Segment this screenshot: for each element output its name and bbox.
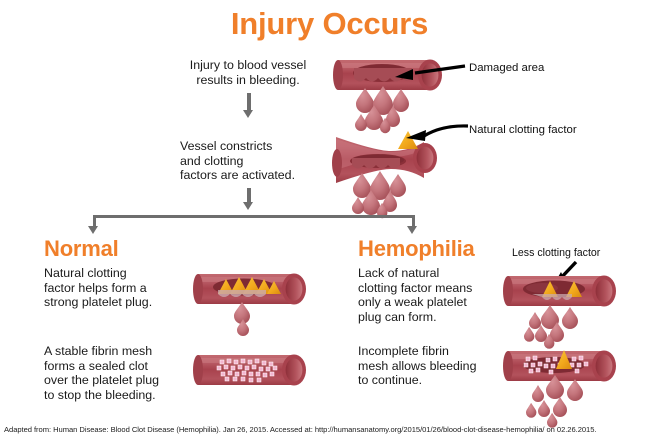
flow-arrow-injury-to-constrict <box>243 93 253 118</box>
footer-source-note: Adapted from: Human Disease: Blood Clot … <box>4 425 656 435</box>
natural-clotting-factor-arrow-icon <box>398 122 470 142</box>
callout-natural-clotting-factor-label: Natural clotting factor <box>469 124 577 136</box>
step-constrict-line-1: Vessel constricts <box>180 139 340 154</box>
infographic-canvas: Injury Occurs Injury to blood vessel res… <box>0 0 659 445</box>
vessel-incomplete-fibrin-mesh-illustration <box>500 345 632 437</box>
branch-connector-line <box>93 215 413 218</box>
blood-droplets <box>526 375 583 428</box>
vessel-sealed-fibrin-clot-illustration <box>190 349 322 399</box>
branch-connector-left <box>92 215 99 234</box>
step-injury-text: Injury to blood vessel results in bleedi… <box>168 58 328 87</box>
page-title: Injury Occurs <box>0 6 659 42</box>
blood-droplets <box>234 302 250 336</box>
vessel-strong-platelet-plug-illustration <box>190 266 322 338</box>
branch-normal-heading: Normal <box>44 236 119 262</box>
normal-row1-line-1: Natural clotting <box>44 266 214 281</box>
blood-droplets <box>352 171 406 218</box>
blood-droplets <box>524 305 578 349</box>
vessel-weak-platelet-plug-illustration <box>500 268 632 346</box>
normal-row1-line-3: strong platelet plug. <box>44 295 214 310</box>
step-constrict-line-3: factors are activated. <box>180 168 340 183</box>
step-injury-line-1: Injury to blood vessel <box>168 58 328 73</box>
callout-damaged-area-label: Damaged area <box>469 62 544 74</box>
step-constrict-text: Vessel constricts and clotting factors a… <box>180 139 340 183</box>
branch-hemophilia-heading: Hemophilia <box>358 236 475 262</box>
flow-arrow-constrict-to-branch <box>243 188 253 210</box>
damaged-area-arrow-icon <box>385 60 467 82</box>
normal-row1-line-2: factor helps form a <box>44 281 214 296</box>
step-injury-line-2: results in bleeding. <box>168 73 328 88</box>
callout-less-clotting-factor-label: Less clotting factor <box>512 247 600 259</box>
branch-normal-row-1-text: Natural clotting factor helps form a str… <box>44 266 214 310</box>
step-constrict-line-2: and clotting <box>180 154 340 169</box>
branch-connector-right <box>410 215 417 234</box>
